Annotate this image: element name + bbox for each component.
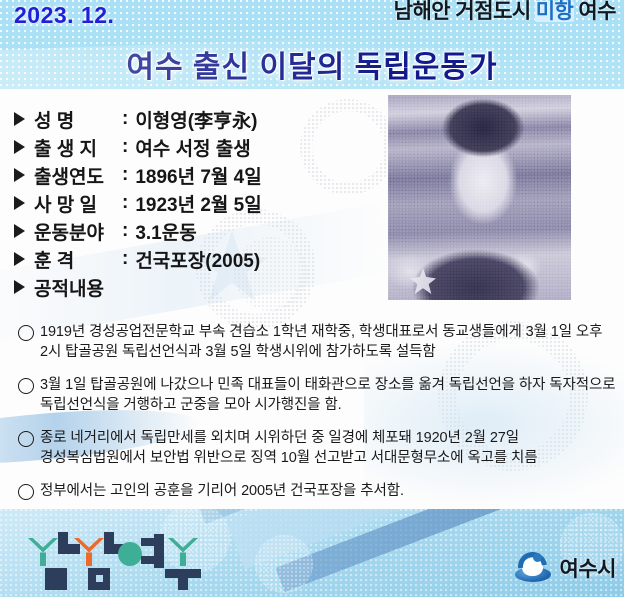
achievement-item: 종로 네거리에서 독립만세를 외치며 시위하던 중 일경에 체포돼 1920년 …: [10, 428, 616, 468]
logo-glyph-yeo-vert: [154, 534, 164, 568]
info-colon-award: :: [120, 248, 135, 270]
info-value-birthplace: 여수 서정 출생: [135, 134, 380, 161]
achievement-list: 1919년 경성공업전문학교 부속 견습소 1학년 재학중, 학생대표로서 동교…: [10, 322, 616, 514]
info-value-movement: 3.1운동: [135, 218, 380, 245]
info-value-deathdate: 1923년 2월 5일: [135, 190, 380, 217]
info-colon-birthplace: :: [120, 136, 135, 158]
triangle-bullet-icon: [14, 280, 25, 294]
achievement-item: 정부에서는 고인의 공훈을 기리어 2005년 건국포장을 추서함.: [10, 481, 616, 501]
brand-slogan-boxed: 미항: [535, 1, 575, 22]
portrait-grain-overlay: [388, 95, 571, 300]
circle-bullet-icon: [18, 431, 34, 447]
info-colon-name: :: [120, 108, 135, 130]
brand-slogan-part1: 남해안 거점도시: [394, 1, 531, 22]
achievement-item: 1919년 경성공업전문학교 부속 견습소 1학년 재학중, 학생대표로서 동교…: [10, 322, 616, 362]
achievement-item: 3월 1일 탑골공원에 나갔으나 민족 대표들이 태화관으로 장소를 옮겨 독립…: [10, 375, 616, 415]
logo-glyph-s1-bar2: [58, 544, 80, 554]
info-label-birthdate: 출생연도: [34, 162, 120, 189]
seomseom-yeosu-logo: [28, 532, 208, 592]
info-row-birthdate: 출생연도 : 1896년 7월 4일: [8, 161, 380, 189]
info-row-movement: 운동분야 : 3.1운동: [8, 217, 380, 245]
logo-glyph-s2-square-hole: [96, 575, 103, 582]
info-colon-movement: :: [120, 220, 135, 242]
circle-bullet-icon: [18, 484, 34, 500]
info-colon-deathdate: :: [120, 192, 135, 214]
footer-circle-2: [255, 535, 313, 593]
portrait-photo: [388, 95, 571, 300]
triangle-bullet-icon: [14, 252, 25, 266]
info-row-deathdate: 사 망 일 : 1923년 2월 5일: [8, 189, 380, 217]
info-list: 성 명 : 이형영(李亨永) 출 생 지 : 여수 서정 출생 출생연도 : 1…: [8, 105, 380, 301]
poster-root: 2023. 12. 남해안 거점도시 미항 여수 여수 출신 이달의 독립운동가…: [0, 0, 624, 597]
yeosu-city-logo: 여수시: [513, 552, 616, 584]
info-label-achievements: 공적내용: [34, 274, 380, 301]
info-row-name: 성 명 : 이형영(李亨永): [8, 105, 380, 133]
brand-slogan-part3: 여수: [578, 1, 616, 22]
circle-bullet-icon: [18, 378, 34, 394]
triangle-bullet-icon: [14, 224, 25, 238]
info-row-award: 훈 격 : 건국포장(2005): [8, 245, 380, 273]
yeosu-city-name: 여수시: [560, 553, 616, 583]
info-colon-birthdate: :: [120, 164, 135, 186]
triangle-bullet-icon: [14, 140, 25, 154]
info-row-birthplace: 출 생 지 : 여수 서정 출생: [8, 133, 380, 161]
logo-glyph-yeo-bottom: [141, 556, 155, 564]
logo-glyph-yeo-top: [141, 538, 155, 546]
header-band: 2023. 12. 남해안 거점도시 미항 여수 여수 출신 이달의 독립운동가: [0, 0, 624, 89]
yeosu-city-mark-icon: [513, 552, 553, 584]
info-label-birthplace: 출 생 지: [34, 134, 120, 161]
date-label: 2023. 12.: [14, 2, 114, 29]
triangle-bullet-icon: [14, 168, 25, 182]
triangle-bullet-icon: [14, 196, 25, 210]
logo-glyph-s1-teal: [28, 538, 58, 566]
info-label-award: 훈 격: [34, 246, 120, 273]
achievement-text: 종로 네거리에서 독립만세를 외치며 시위하던 중 일경에 체포돼 1920년 …: [40, 428, 616, 468]
info-value-birthdate: 1896년 7월 4일: [135, 162, 380, 189]
info-label-deathdate: 사 망 일: [34, 190, 120, 217]
achievement-text: 3월 1일 탑골공원에 나갔으나 민족 대표들이 태화관으로 장소를 옮겨 독립…: [40, 375, 616, 415]
logo-glyph-su-vert: [178, 569, 188, 590]
city-mark-dot: [533, 553, 542, 562]
info-value-award: 건국포장(2005): [135, 246, 380, 273]
info-label-name: 성 명: [34, 106, 120, 133]
page-title: 여수 출신 이달의 독립운동가: [0, 42, 624, 86]
achievement-text: 1919년 경성공업전문학교 부속 견습소 1학년 재학중, 학생대표로서 동교…: [40, 322, 616, 362]
info-label-movement: 운동분야: [34, 218, 120, 245]
logo-glyph-s1-square: [45, 568, 67, 590]
info-row-achievements-heading: 공적내용: [8, 273, 380, 301]
logo-glyph-su-teal: [168, 538, 198, 566]
achievement-text: 정부에서는 고인의 공훈을 기리어 2005년 건국포장을 추서함.: [40, 481, 616, 501]
triangle-bullet-icon: [14, 112, 25, 126]
info-value-name: 이형영(李亨永): [135, 106, 380, 133]
city-mark-swoosh: [512, 546, 553, 587]
circle-bullet-icon: [18, 325, 34, 341]
brand-slogan: 남해안 거점도시 미항 여수: [394, 1, 616, 22]
logo-glyph-yeo-circle: [118, 542, 142, 566]
